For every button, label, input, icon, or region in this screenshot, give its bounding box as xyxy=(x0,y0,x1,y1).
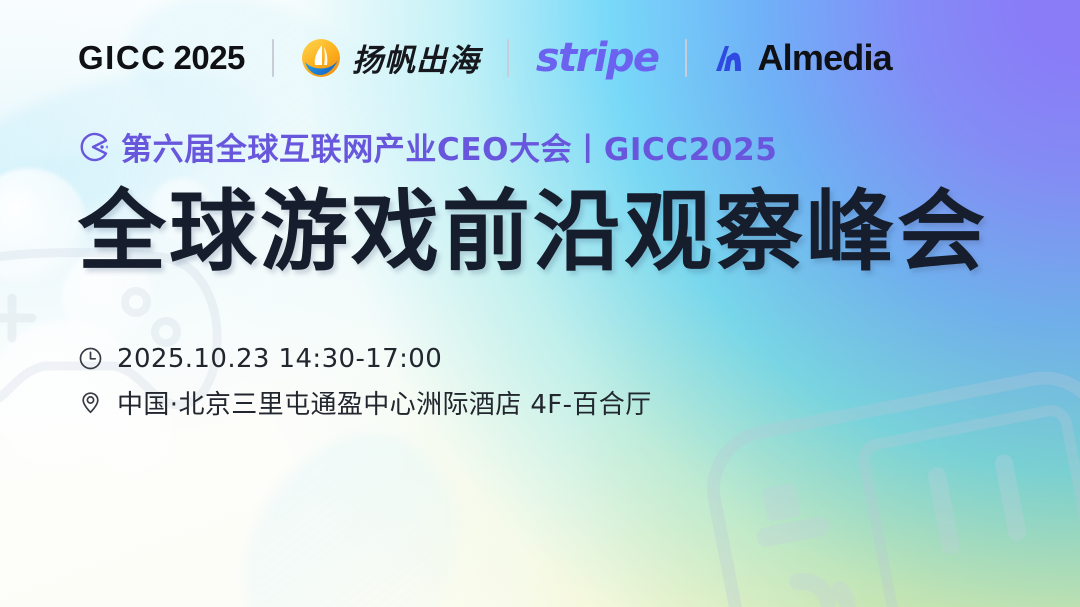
event-datetime-row: 2025.10.23 14:30-17:00 xyxy=(78,344,1080,374)
subtitle-row: 第六届全球互联网产业CEO大会丨GICC2025 xyxy=(78,124,1080,169)
event-meta: 2025.10.23 14:30-17:00 中国·北京三里屯通盈中心洲际酒店 … xyxy=(78,344,1080,421)
logo-divider xyxy=(507,39,509,77)
banner-content: GICC2025 xyxy=(0,0,1080,607)
pacman-icon xyxy=(78,132,108,162)
gicc-logo-word: GICC xyxy=(78,39,167,77)
gicc-logo-year: 2025 xyxy=(174,39,245,77)
yangfan-sail-mark-icon xyxy=(301,38,341,78)
logo-divider xyxy=(685,39,687,77)
logo-divider xyxy=(272,39,274,77)
almedia-logo-text: Almedia xyxy=(757,37,891,79)
yangfan-logo: 扬帆出海 xyxy=(301,35,480,80)
event-location-row: 中国·北京三里屯通盈中心洲际酒店 4F-百合厅 xyxy=(78,384,1080,421)
clock-icon xyxy=(78,346,103,371)
almedia-logo: Almedia xyxy=(714,37,891,79)
gicc-logo: GICC2025 xyxy=(78,39,245,77)
yangfan-logo-text: 扬帆出海 xyxy=(352,35,480,80)
page-title: 全球游戏前沿观察峰会 xyxy=(78,183,1080,282)
event-banner: GICC2025 xyxy=(0,0,1080,607)
almedia-mark-icon xyxy=(714,42,750,74)
stripe-logo-text: stripe xyxy=(536,35,659,81)
stripe-logo: stripe xyxy=(536,35,659,81)
map-pin-icon xyxy=(78,390,103,415)
event-location: 中国·北京三里屯通盈中心洲际酒店 4F-百合厅 xyxy=(117,384,652,421)
sponsor-logo-row: GICC2025 xyxy=(78,0,1080,62)
event-datetime: 2025.10.23 14:30-17:00 xyxy=(117,344,442,374)
event-subtitle: 第六届全球互联网产业CEO大会丨GICC2025 xyxy=(121,124,777,169)
